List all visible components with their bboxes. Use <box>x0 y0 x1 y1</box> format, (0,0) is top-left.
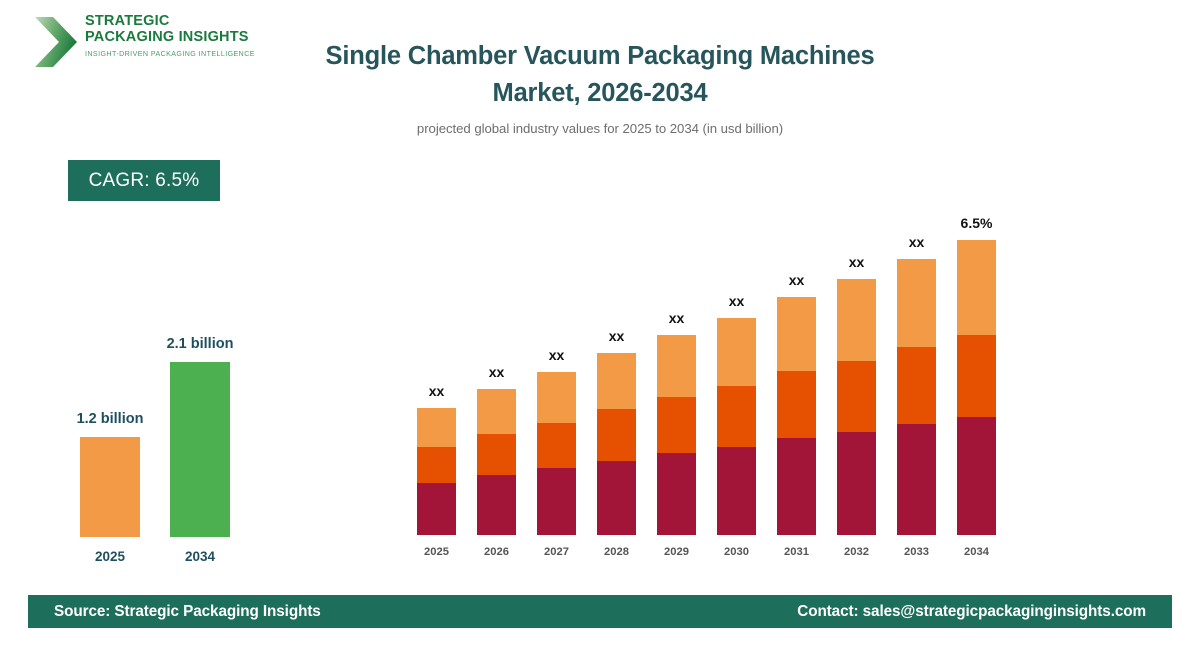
stacked-bar-2031 <box>777 297 816 535</box>
stacked-bar-axis-label: 2025 <box>424 546 449 558</box>
stacked-segment-segment-1 <box>657 453 696 535</box>
stacked-segment-segment-2 <box>897 347 936 424</box>
stacked-bar-axis-label: 2029 <box>664 546 689 558</box>
stacked-bar-top-label: xx <box>849 254 865 270</box>
stacked-bar-column: 6.5%2034 <box>957 225 996 560</box>
stacked-bar-top-label: xx <box>429 383 445 399</box>
cagr-badge: CAGR: 6.5% <box>68 160 220 201</box>
stacked-segment-segment-3 <box>417 408 456 447</box>
stacked-bar-column: xx2029 <box>657 225 696 560</box>
header-block: Single Chamber Vacuum Packaging Machines… <box>240 38 960 136</box>
stacked-bar-2027 <box>537 372 576 535</box>
stacked-bar-top-label: xx <box>549 347 565 363</box>
page-title-line-1: Single Chamber Vacuum Packaging Machines <box>240 38 960 75</box>
stacked-bar-2025 <box>417 408 456 535</box>
logo-line-1: STRATEGIC <box>85 14 255 30</box>
stacked-segment-segment-1 <box>477 475 516 535</box>
stacked-segment-segment-3 <box>837 279 876 361</box>
mini-bar-column: 1.2 billion2025 <box>80 437 140 537</box>
stacked-segment-segment-2 <box>957 335 996 417</box>
stacked-bar-top-label: xx <box>789 272 805 288</box>
stacked-bar-axis-label: 2034 <box>964 546 989 558</box>
stacked-segment-segment-2 <box>417 447 456 484</box>
stacked-segment-segment-1 <box>777 438 816 535</box>
mini-bar-column: 2.1 billion2034 <box>170 362 230 537</box>
footer-source: Source: Strategic Packaging Insights <box>54 603 321 621</box>
stacked-segment-segment-1 <box>897 424 936 535</box>
page-title: Single Chamber Vacuum Packaging Machines… <box>240 38 960 112</box>
footer-contact: Contact: sales@strategicpackaginginsight… <box>797 603 1146 621</box>
stacked-bar-column: xx2031 <box>777 225 816 560</box>
mini-bar-axis-label: 2025 <box>95 549 125 564</box>
stacked-bar-axis-label: 2033 <box>904 546 929 558</box>
stacked-bar-axis-label: 2032 <box>844 546 869 558</box>
stacked-bar-2029 <box>657 335 696 535</box>
stacked-segment-segment-3 <box>537 372 576 423</box>
stacked-segment-segment-2 <box>657 397 696 453</box>
stacked-segment-segment-3 <box>777 297 816 371</box>
brand-logo: STRATEGIC PACKAGING INSIGHTS INSIGHT-DRI… <box>33 14 233 76</box>
stacked-bar-2030 <box>717 318 756 535</box>
stacked-bar-column: xx2033 <box>897 225 936 560</box>
stacked-segment-segment-3 <box>897 259 936 347</box>
stacked-segment-segment-3 <box>477 389 516 434</box>
stacked-bar-2032 <box>837 279 876 535</box>
endpoint-comparison-chart: 1.2 billion20252.1 billion2034 <box>40 320 290 570</box>
mini-bar-value-label: 2.1 billion <box>167 336 234 352</box>
stacked-segment-segment-2 <box>477 434 516 475</box>
stacked-segment-segment-1 <box>537 468 576 535</box>
stacked-segment-segment-3 <box>597 353 636 409</box>
footer-bar: Source: Strategic Packaging Insights Con… <box>28 595 1172 628</box>
stacked-bar-column: xx2030 <box>717 225 756 560</box>
stacked-bar-column: xx2025 <box>417 225 456 560</box>
stacked-segment-segment-2 <box>837 361 876 432</box>
stacked-segment-segment-2 <box>777 371 816 438</box>
stacked-bar-column: xx2028 <box>597 225 636 560</box>
stacked-bar-column: xx2032 <box>837 225 876 560</box>
stacked-bar-top-label: xx <box>609 328 625 344</box>
stacked-bar-top-label: xx <box>669 310 685 326</box>
stacked-segment-segment-2 <box>717 386 756 446</box>
stacked-segment-segment-3 <box>717 318 756 386</box>
mini-bar-value-label: 1.2 billion <box>77 411 144 427</box>
stacked-segment-segment-3 <box>957 240 996 335</box>
logo-line-2: PACKAGING INSIGHTS <box>85 30 255 46</box>
page-subtitle: projected global industry values for 202… <box>240 121 960 136</box>
forecast-stacked-chart: xx2025xx2026xx2027xx2028xx2029xx2030xx20… <box>405 200 1025 560</box>
stacked-segment-segment-1 <box>957 417 996 535</box>
stacked-bar-column: xx2027 <box>537 225 576 560</box>
stacked-bar-axis-label: 2028 <box>604 546 629 558</box>
stacked-bar-2033 <box>897 259 936 535</box>
stacked-bar-top-label: xx <box>489 364 505 380</box>
logo-tagline: INSIGHT-DRIVEN PACKAGING INTELLIGENCE <box>85 50 255 58</box>
mini-bar-2025 <box>80 437 140 537</box>
page-title-line-2: Market, 2026-2034 <box>240 75 960 112</box>
stacked-bar-2034 <box>957 240 996 535</box>
mini-bar-2034 <box>170 362 230 537</box>
brand-logo-text: STRATEGIC PACKAGING INSIGHTS INSIGHT-DRI… <box>85 14 255 58</box>
stacked-segment-segment-2 <box>597 409 636 461</box>
stacked-bar-axis-label: 2027 <box>544 546 569 558</box>
cagr-badge-label: CAGR: 6.5% <box>89 170 200 192</box>
stacked-bar-top-label: xx <box>909 234 925 250</box>
stacked-bar-top-label: 6.5% <box>961 215 993 231</box>
stacked-segment-segment-1 <box>837 432 876 535</box>
stacked-bar-2028 <box>597 353 636 535</box>
stacked-bar-axis-label: 2031 <box>784 546 809 558</box>
stacked-bar-axis-label: 2026 <box>484 546 509 558</box>
chevron-right-icon <box>33 16 79 68</box>
stacked-bar-column: xx2026 <box>477 225 516 560</box>
stacked-segment-segment-1 <box>597 461 636 535</box>
stacked-bar-2026 <box>477 389 516 535</box>
stacked-segment-segment-1 <box>417 483 456 535</box>
mini-bar-axis-label: 2034 <box>185 549 215 564</box>
stacked-segment-segment-3 <box>657 335 696 397</box>
stacked-segment-segment-1 <box>717 447 756 535</box>
stacked-segment-segment-2 <box>537 423 576 468</box>
stacked-bar-top-label: xx <box>729 293 745 309</box>
stacked-bar-axis-label: 2030 <box>724 546 749 558</box>
